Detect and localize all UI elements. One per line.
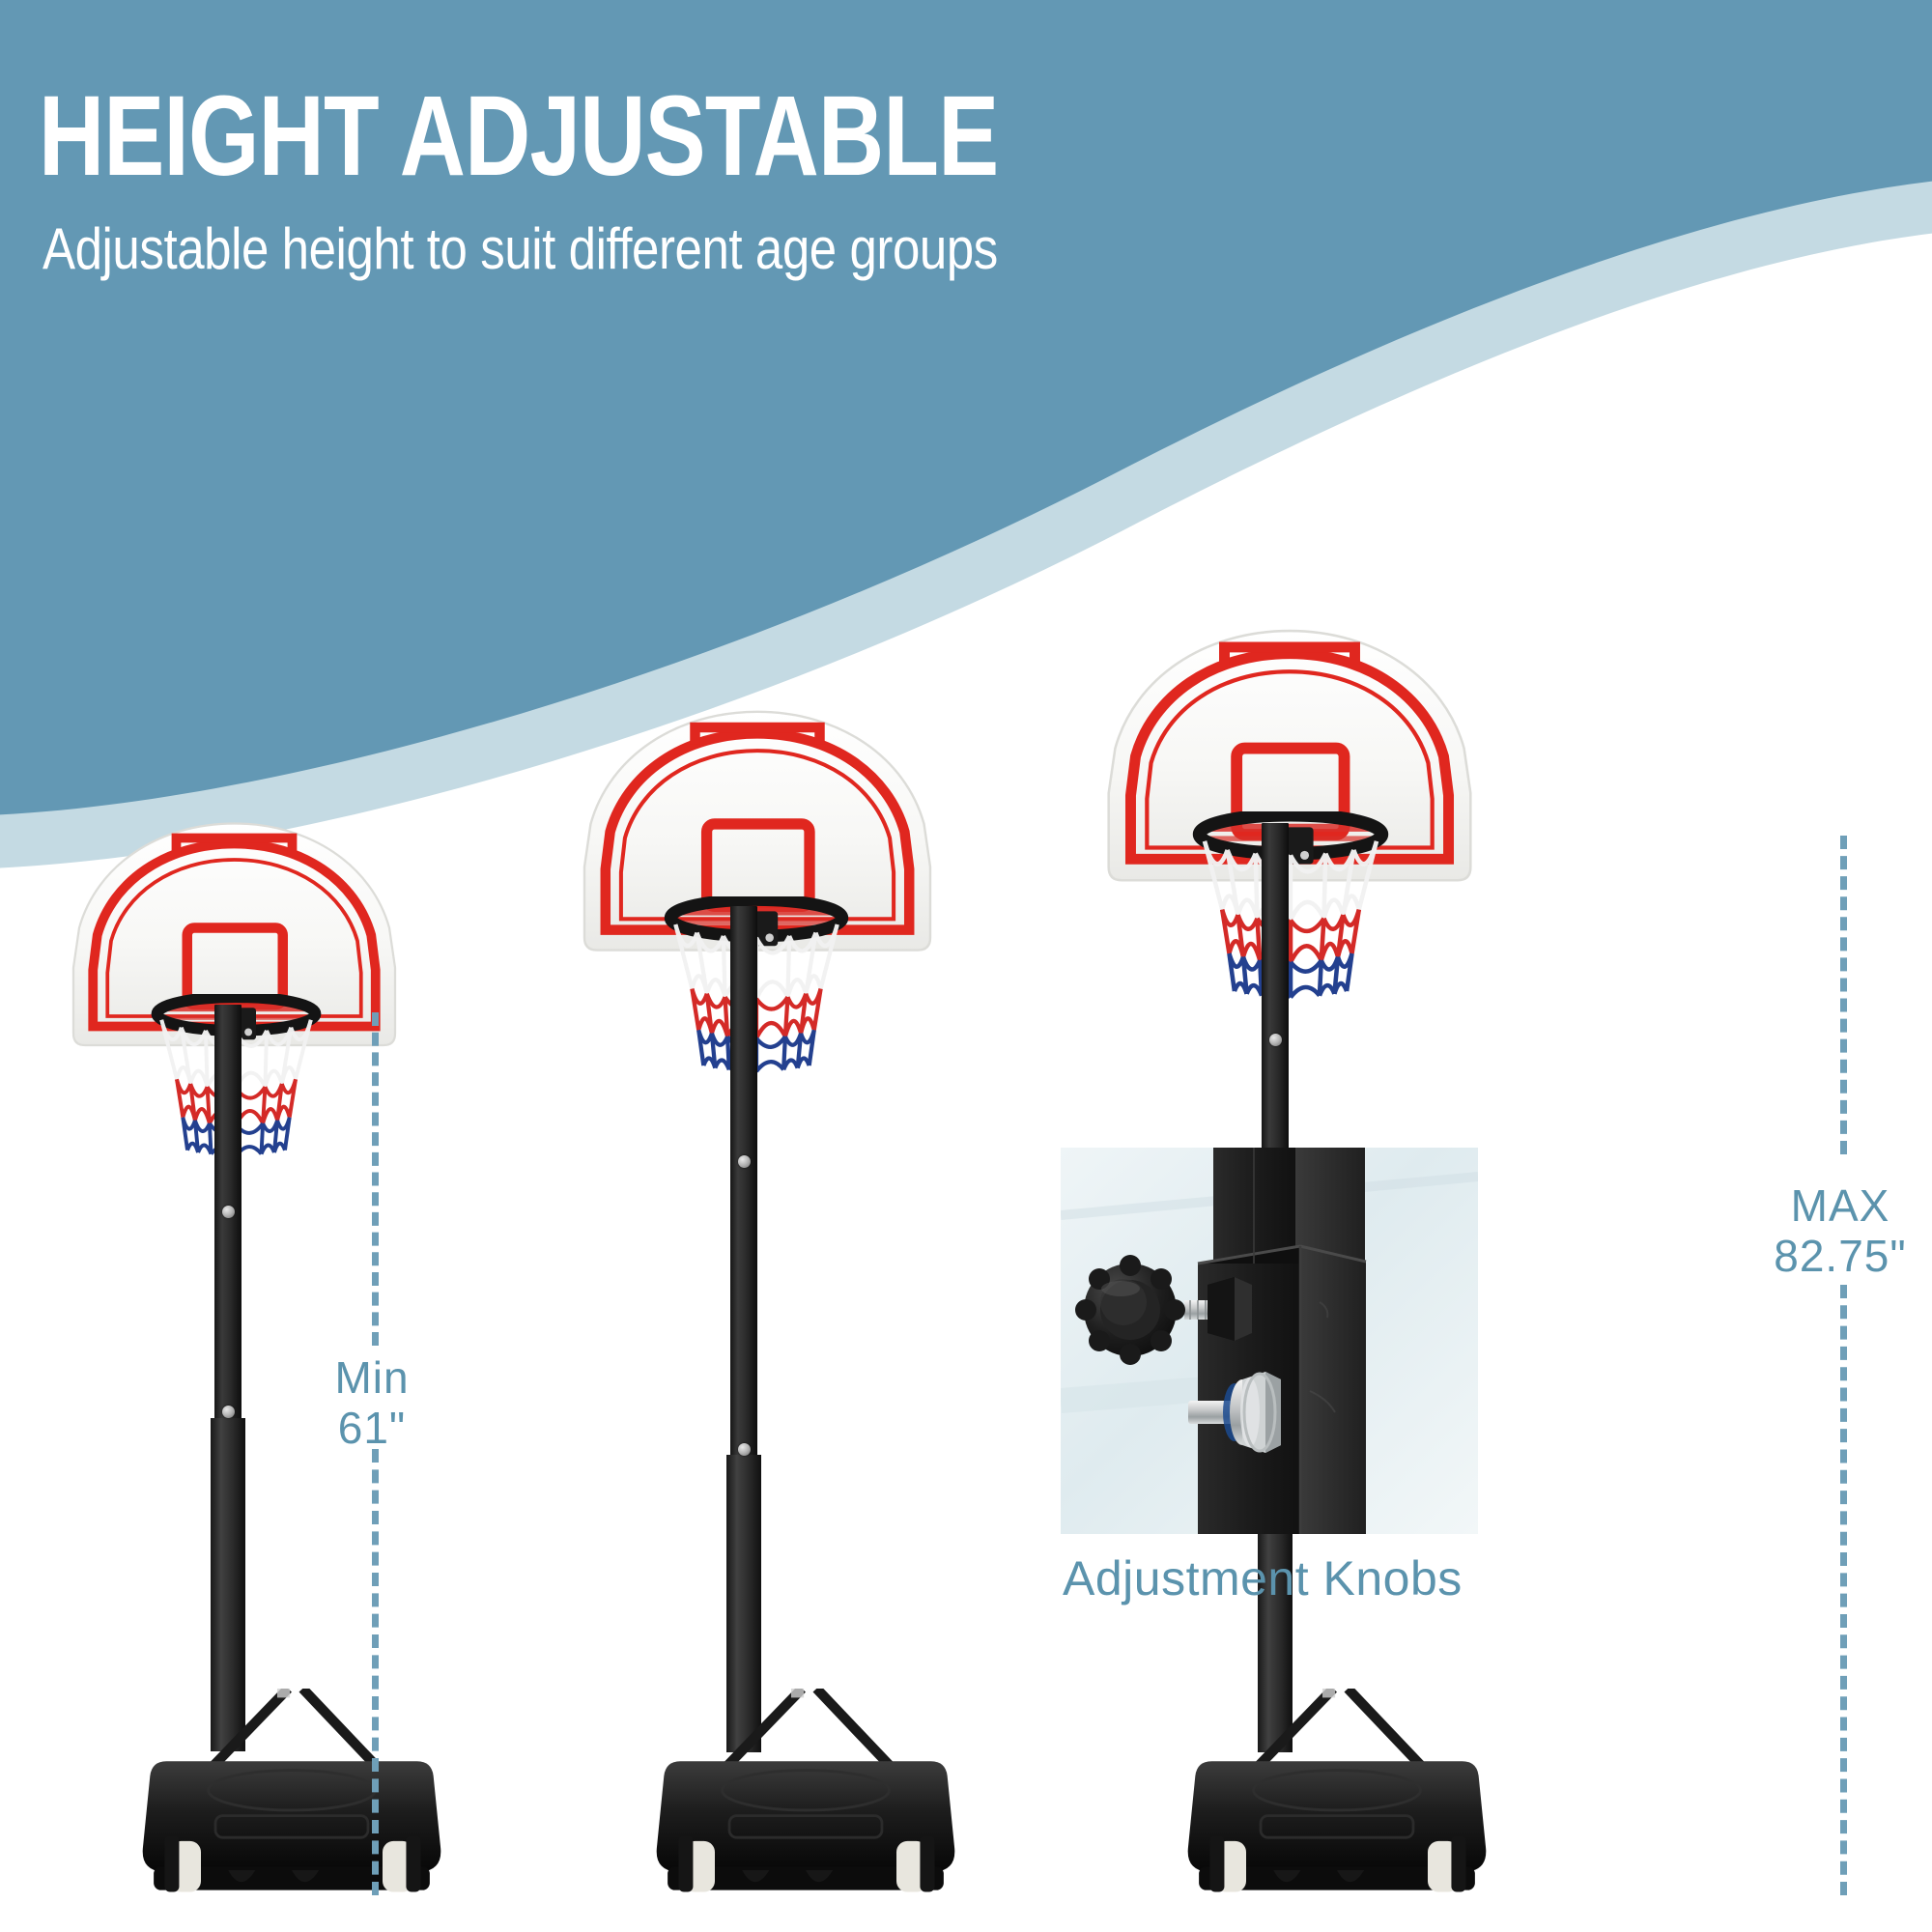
wheeled-base-center bbox=[641, 1689, 970, 1916]
min-label-text: Min bbox=[334, 1352, 409, 1403]
min-height-dimension-line-upper bbox=[372, 1012, 379, 1346]
infographic-canvas: HEIGHT ADJUSTABLE Adjustable height to s… bbox=[0, 0, 1932, 1932]
adjustment-knobs-caption: Adjustment Knobs bbox=[1063, 1550, 1463, 1606]
pole-upper-center bbox=[730, 906, 757, 1457]
pole-bolt-icon bbox=[1269, 1034, 1282, 1046]
max-label-value: 82.75" bbox=[1774, 1231, 1906, 1281]
banner-background-shape bbox=[0, 0, 1932, 869]
max-height-label: MAX 82.75" bbox=[1729, 1180, 1932, 1282]
max-height-dimension-line-upper bbox=[1840, 836, 1847, 1154]
header-banner: HEIGHT ADJUSTABLE Adjustable height to s… bbox=[0, 0, 1932, 869]
min-label-value: 61" bbox=[338, 1403, 407, 1453]
min-height-label: Min 61" bbox=[275, 1352, 469, 1454]
page-title: HEIGHT ADJUSTABLE bbox=[39, 79, 998, 193]
max-label-text: MAX bbox=[1791, 1180, 1890, 1231]
rim-and-net-right bbox=[1177, 811, 1405, 1039]
pole-bolt-icon bbox=[738, 1155, 751, 1168]
min-height-dimension-line-lower bbox=[372, 1449, 379, 1895]
pole-bolt-icon bbox=[738, 1443, 751, 1456]
adjustment-knobs-photo bbox=[1061, 1148, 1478, 1534]
page-subtitle: Adjustable height to suit different age … bbox=[43, 220, 998, 278]
pole-bolt-icon bbox=[222, 1206, 235, 1218]
wheeled-base-right bbox=[1173, 1689, 1501, 1916]
max-height-dimension-line-lower bbox=[1840, 1285, 1847, 1895]
wheeled-base-left bbox=[128, 1689, 456, 1916]
pole-bolt-icon bbox=[222, 1406, 235, 1418]
